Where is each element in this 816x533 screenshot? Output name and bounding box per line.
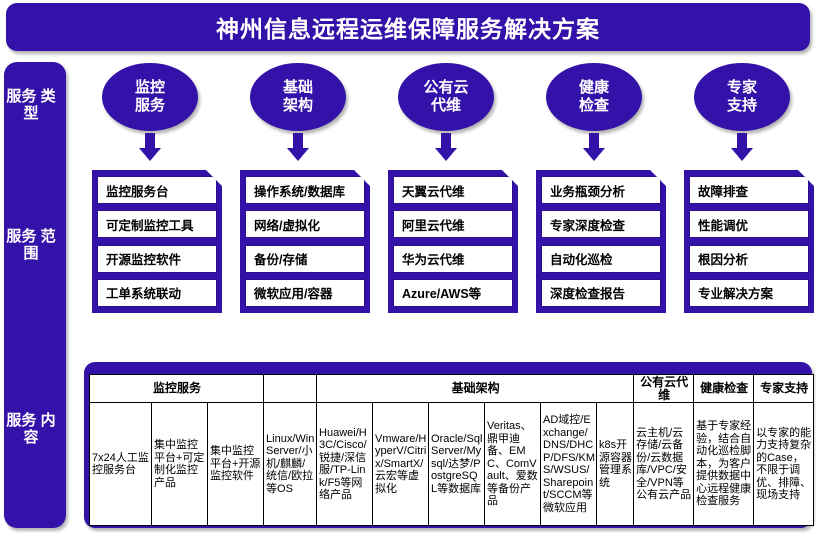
scope-item[interactable]: Azure/AWS等 bbox=[393, 279, 513, 307]
table-group-header: 基础架构 bbox=[317, 375, 634, 403]
scope-item[interactable]: 根因分析 bbox=[689, 245, 809, 273]
table-group-header: 专家支持 bbox=[754, 375, 814, 403]
table-cell: 集中监控平台+开源监控软件 bbox=[208, 403, 264, 526]
scope-item[interactable]: 操作系统/数据库 bbox=[245, 176, 365, 204]
left-rail bbox=[4, 62, 66, 528]
service-content-table: 监控服务基础架构公有云代维健康检查专家支持 7x24人工监控服务台集中监控平台+… bbox=[89, 374, 814, 526]
scope-item[interactable]: 微软应用/容器 bbox=[245, 279, 365, 307]
category-ellipse-expert-support[interactable]: 专家 支持 bbox=[694, 63, 790, 131]
scope-item[interactable]: 专业解决方案 bbox=[689, 279, 809, 307]
table-cell: Huawei/H3C/Cisco/锐捷/深信服/TP-Link/F5等网络产品 bbox=[317, 403, 373, 526]
scope-card-expert-support: 故障排查 性能调优 根因分析 专业解决方案 bbox=[684, 170, 814, 313]
category-label-health-check: 健康 检查 bbox=[579, 79, 609, 115]
table-cell: k8s开源容器管理系统 bbox=[597, 403, 634, 526]
table-cell: Veritas、鼎甲迪备、EMC、ComVault、爱数等备份产品 bbox=[485, 403, 541, 526]
page-title-banner: 神州信息远程运维保障服务解决方案 bbox=[6, 3, 810, 51]
arrow-down-expert-support bbox=[731, 133, 753, 161]
category-label-infrastructure: 基础 架构 bbox=[283, 79, 313, 115]
scope-item[interactable]: 工单系统联动 bbox=[97, 279, 217, 307]
rail-label-service-type: 服务 类型 bbox=[0, 88, 62, 122]
table-group-header: 公有云代维 bbox=[634, 375, 694, 403]
category-label-public-cloud: 公有云 代维 bbox=[423, 79, 468, 115]
scope-item[interactable]: 性能调优 bbox=[689, 210, 809, 238]
table-cell: 7x24人工监控服务台 bbox=[90, 403, 152, 526]
table-cell: Oracle/SqlServer/Mysql/达梦/PostgreSQL等数据库 bbox=[429, 403, 485, 526]
service-content-panel: 监控服务基础架构公有云代维健康检查专家支持 7x24人工监控服务台集中监控平台+… bbox=[84, 362, 812, 528]
rail-label-service-scope: 服务 范围 bbox=[0, 228, 62, 262]
arrow-down-infrastructure bbox=[287, 133, 309, 161]
scope-card-public-cloud: 天翼云代维 阿里云代维 华为云代维 Azure/AWS等 bbox=[388, 170, 518, 313]
table-group-header bbox=[264, 375, 317, 403]
table-cell: 云主机/云存储/云备份/云数据库/VPC/安全/VPN等公有云产品 bbox=[634, 403, 694, 526]
category-ellipse-infrastructure[interactable]: 基础 架构 bbox=[250, 63, 346, 131]
table-cell: 基于专家经验，结合自动化巡检脚本，为客户提供数据中心远程健康检查服务 bbox=[694, 403, 754, 526]
scope-item[interactable]: 华为云代维 bbox=[393, 245, 513, 273]
table-group-header: 健康检查 bbox=[694, 375, 754, 403]
arrow-down-health-check bbox=[583, 133, 605, 161]
scope-item[interactable]: 网络/虚拟化 bbox=[245, 210, 365, 238]
table-cell: 集中监控平台+可定制化监控产品 bbox=[152, 403, 208, 526]
scope-item[interactable]: 自动化巡检 bbox=[541, 245, 661, 273]
category-label-expert-support: 专家 支持 bbox=[727, 79, 757, 115]
table-group-header-row: 监控服务基础架构公有云代维健康检查专家支持 bbox=[90, 375, 814, 403]
table-group-header: 监控服务 bbox=[90, 375, 264, 403]
rail-label-service-content: 服务 内容 bbox=[0, 412, 62, 446]
scope-item[interactable]: 天翼云代维 bbox=[393, 176, 513, 204]
scope-item[interactable]: 备份/存储 bbox=[245, 245, 365, 273]
scope-item[interactable]: 开源监控软件 bbox=[97, 245, 217, 273]
scope-item[interactable]: 可定制监控工具 bbox=[97, 210, 217, 238]
scope-item[interactable]: 深度检查报告 bbox=[541, 279, 661, 307]
scope-item[interactable]: 专家深度检查 bbox=[541, 210, 661, 238]
arrow-down-monitor-service bbox=[139, 133, 161, 161]
page-title: 神州信息远程运维保障服务解决方案 bbox=[216, 10, 600, 44]
table-cell: AD域控/Exchange/DNS/DHCP/DFS/KMS/WSUS/Shar… bbox=[541, 403, 597, 526]
category-ellipse-monitor-service[interactable]: 监控 服务 bbox=[102, 63, 198, 131]
scope-item[interactable]: 故障排查 bbox=[689, 176, 809, 204]
scope-item[interactable]: 业务瓶颈分析 bbox=[541, 176, 661, 204]
category-label-monitor-service: 监控 服务 bbox=[135, 79, 165, 115]
table-cell: Linux/Win Server/小机/麒麟/统信/欧拉等OS bbox=[264, 403, 317, 526]
scope-card-infrastructure: 操作系统/数据库 网络/虚拟化 备份/存储 微软应用/容器 bbox=[240, 170, 370, 313]
category-ellipse-public-cloud[interactable]: 公有云 代维 bbox=[398, 63, 494, 131]
scope-card-monitor-service: 监控服务台 可定制监控工具 开源监控软件 工单系统联动 bbox=[92, 170, 222, 313]
table-row: 7x24人工监控服务台集中监控平台+可定制化监控产品集中监控平台+开源监控软件L… bbox=[90, 403, 814, 526]
table-cell: 以专家的能力支持复杂的Case，不限于调优、排障、现场支持 bbox=[754, 403, 814, 526]
arrow-down-public-cloud bbox=[435, 133, 457, 161]
table-cell: Vmware/HyperV/Citrix/SmartX/云宏等虚拟化 bbox=[373, 403, 429, 526]
scope-card-health-check: 业务瓶颈分析 专家深度检查 自动化巡检 深度检查报告 bbox=[536, 170, 666, 313]
scope-item[interactable]: 阿里云代维 bbox=[393, 210, 513, 238]
category-ellipse-health-check[interactable]: 健康 检查 bbox=[546, 63, 642, 131]
scope-item[interactable]: 监控服务台 bbox=[97, 176, 217, 204]
